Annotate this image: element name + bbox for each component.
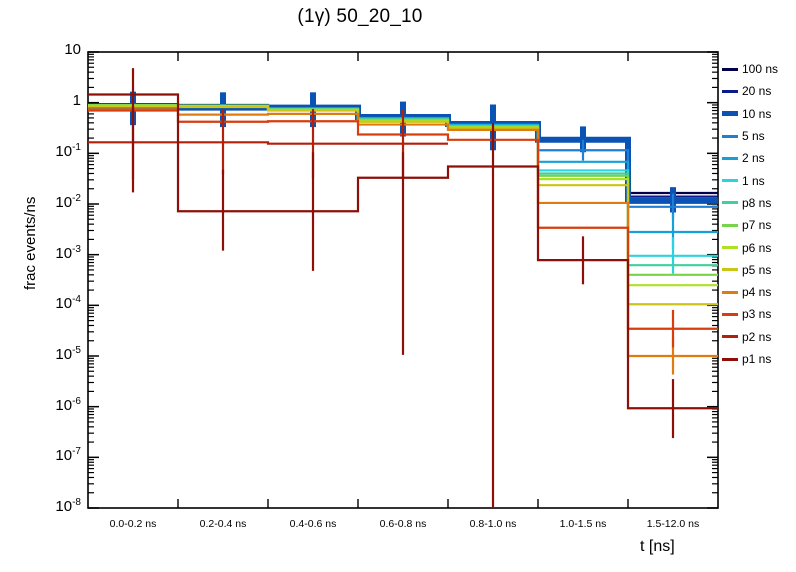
legend-item[interactable]: p4 ns (722, 281, 796, 303)
legend-item-label: 2 ns (742, 152, 765, 164)
y-tick-label: 10-6 (11, 396, 81, 414)
y-tick-label: 10-1 (11, 142, 81, 160)
legend-color-swatch (722, 358, 738, 361)
legend-item-label: 5 ns (742, 130, 765, 142)
legend-item-label: p6 ns (742, 242, 771, 254)
y-tick-label: 1 (11, 92, 81, 109)
legend-color-swatch (722, 157, 738, 160)
legend-item-label: p3 ns (742, 308, 771, 320)
legend-item[interactable]: 10 ns (722, 103, 796, 125)
legend-item[interactable]: p3 ns (722, 303, 796, 325)
legend-item-label: p2 ns (742, 331, 771, 343)
legend-item[interactable]: p8 ns (722, 192, 796, 214)
legend-color-swatch (722, 201, 738, 204)
legend-color-swatch (722, 291, 738, 294)
y-tick-label: 10-4 (11, 294, 81, 312)
x-tick-label: 0.4-0.6 ns (268, 518, 358, 530)
x-tick-label: 1.5-12.0 ns (628, 518, 718, 530)
legend-item[interactable]: p6 ns (722, 236, 796, 258)
legend: 100 ns20 ns10 ns5 ns2 ns1 nsp8 nsp7 nsp6… (722, 58, 796, 370)
legend-color-swatch (722, 135, 738, 138)
y-tick-label: 10-3 (11, 244, 81, 262)
x-tick-label: 1.0-1.5 ns (538, 518, 628, 530)
legend-item-label: p4 ns (742, 286, 771, 298)
y-tick-label: 10-2 (11, 193, 81, 211)
x-tick-label: 0.8-1.0 ns (448, 518, 538, 530)
legend-color-swatch (722, 90, 738, 93)
legend-item[interactable]: p2 ns (722, 326, 796, 348)
legend-item-label: 20 ns (742, 85, 771, 97)
legend-item-label: 10 ns (742, 108, 771, 120)
series-step-line (88, 142, 448, 143)
legend-item-label: 100 ns (742, 63, 778, 75)
y-tick-label: 10-8 (11, 497, 81, 515)
chart-root: (1γ) 50_20_10 frac events/ns t [ns] 1011… (0, 0, 796, 572)
legend-item-label: p5 ns (742, 264, 771, 276)
legend-color-swatch (722, 111, 738, 116)
legend-color-swatch (722, 68, 738, 71)
legend-color-swatch (722, 268, 738, 271)
legend-item[interactable]: 100 ns (722, 58, 796, 80)
legend-color-swatch (722, 179, 738, 182)
legend-item-label: p1 ns (742, 353, 771, 365)
legend-color-swatch (722, 313, 738, 316)
legend-item[interactable]: 20 ns (722, 80, 796, 102)
legend-item[interactable]: 2 ns (722, 147, 796, 169)
x-tick-label: 0.6-0.8 ns (358, 518, 448, 530)
legend-item[interactable]: p1 ns (722, 348, 796, 370)
legend-item-label: p8 ns (742, 197, 771, 209)
legend-item[interactable]: p7 ns (722, 214, 796, 236)
y-tick-label: 10-7 (11, 446, 81, 464)
y-tick-label: 10-5 (11, 345, 81, 363)
legend-color-swatch (722, 335, 738, 338)
legend-item-label: p7 ns (742, 219, 771, 231)
y-tick-label: 10 (11, 41, 81, 58)
x-tick-label: 0.2-0.4 ns (178, 518, 268, 530)
legend-color-swatch (722, 246, 738, 249)
data-series-group (88, 68, 718, 559)
legend-item[interactable]: p5 ns (722, 259, 796, 281)
x-tick-label: 0.0-0.2 ns (88, 518, 178, 530)
legend-item-label: 1 ns (742, 175, 765, 187)
legend-color-swatch (722, 224, 738, 227)
plot-canvas (0, 0, 796, 572)
legend-item[interactable]: 5 ns (722, 125, 796, 147)
legend-item[interactable]: 1 ns (722, 169, 796, 191)
